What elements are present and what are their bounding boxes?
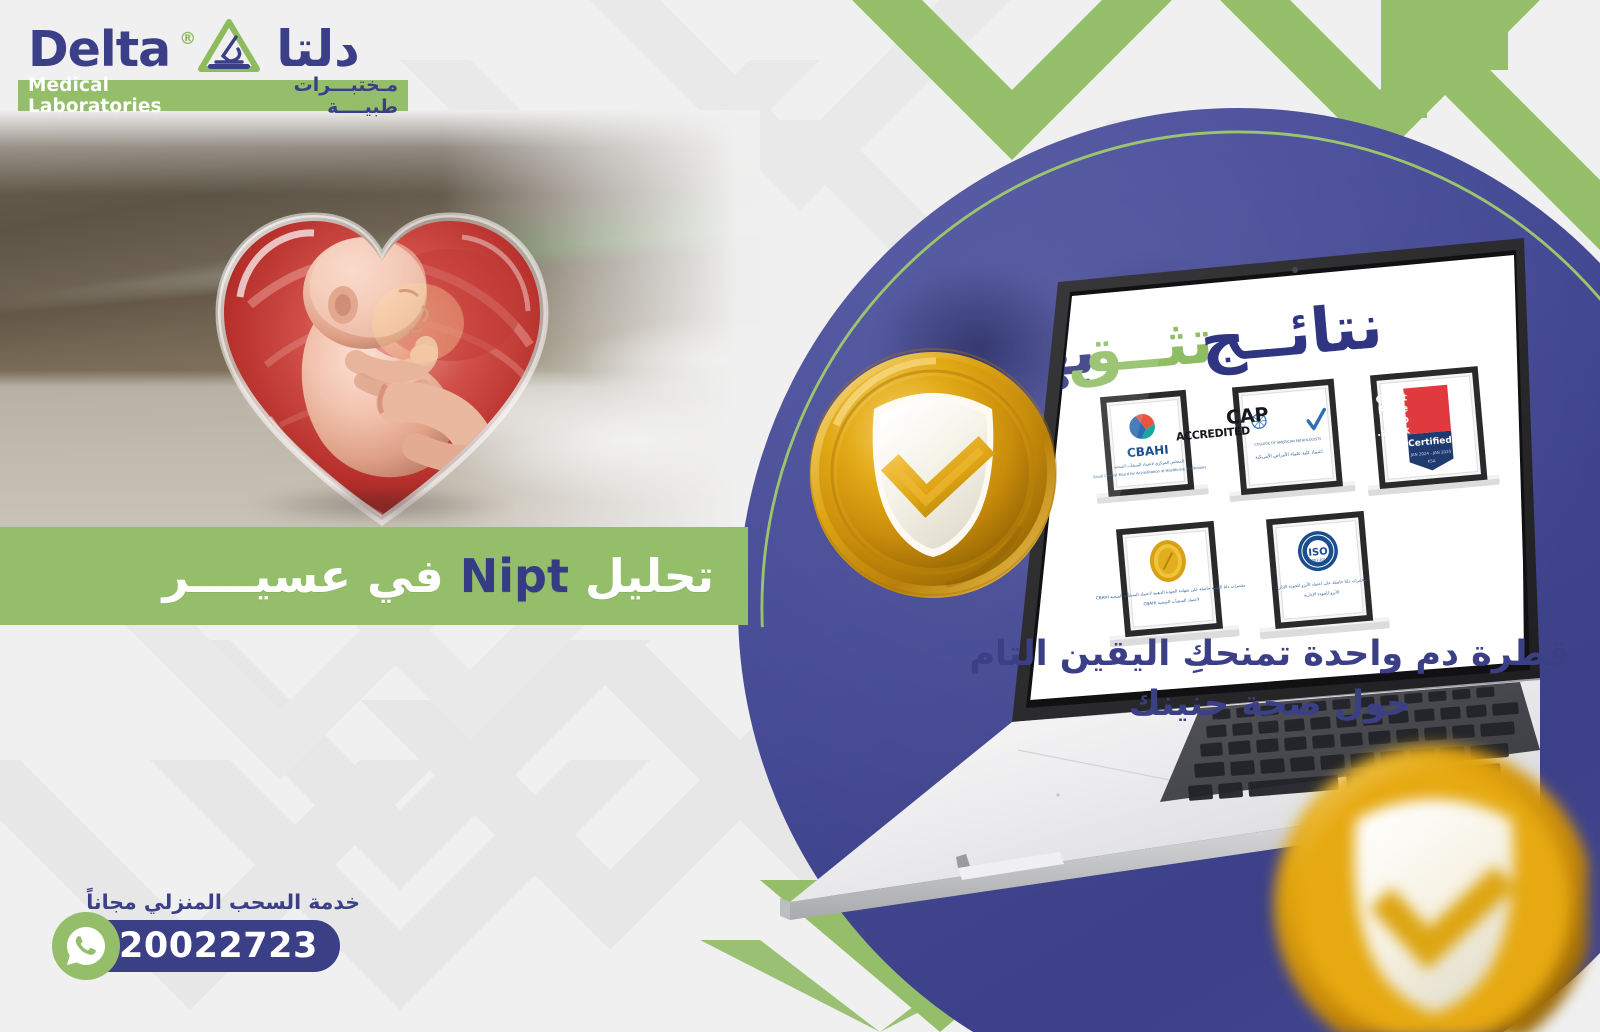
subtitle-line-1: قطرة دم واحدة تمنحكِ اليقين التام — [940, 630, 1600, 680]
brand-logo[interactable]: Delta ® دلتا Medical Laboratories مـخت — [18, 18, 408, 114]
microscope-triangle-icon — [198, 19, 260, 79]
headline-band: تحليل Nipt في عسيــــر — [0, 527, 748, 625]
contact-block[interactable]: خدمة السحب المنزلي مجاناً 920022723 — [30, 890, 360, 995]
shield-check-gold-coin-blurred — [1258, 737, 1588, 1032]
phone-number: 920022723 — [94, 926, 318, 966]
subtitle-line-2: حول صحة جنينك — [940, 680, 1600, 730]
brand-name-ar: دلتا — [276, 24, 360, 74]
brand-tagline-ar: مـختبـــرات طبيــــة — [231, 74, 398, 118]
whatsapp-icon[interactable] — [52, 912, 120, 980]
headline-suffix: في عسيــــر — [163, 549, 444, 603]
home-service-note: خدمة السحب المنزلي مجاناً — [86, 890, 360, 914]
poster-canvas: بهــا تثــق نتائــج — [0, 0, 1600, 1032]
brand-tagline-bar: Medical Laboratories مـختبـــرات طبيــــ… — [18, 80, 408, 111]
subtitle-block: قطرة دم واحدة تمنحكِ اليقين التام حول صح… — [900, 630, 1600, 729]
fetus-in-heart-illustration — [210, 185, 555, 540]
headline-text: تحليل Nipt في عسيــــر — [163, 553, 748, 599]
brand-tagline-en: Medical Laboratories — [28, 75, 231, 117]
cert-gptw-region: KSA — [1427, 458, 1436, 464]
registered-mark-icon: ® — [179, 29, 196, 49]
shield-check-gold-coin — [806, 345, 1061, 603]
headline-prefix: تحليل — [585, 549, 714, 603]
headline-accent-nipt: Nipt — [460, 549, 569, 603]
brand-name-en: Delta — [28, 25, 170, 74]
